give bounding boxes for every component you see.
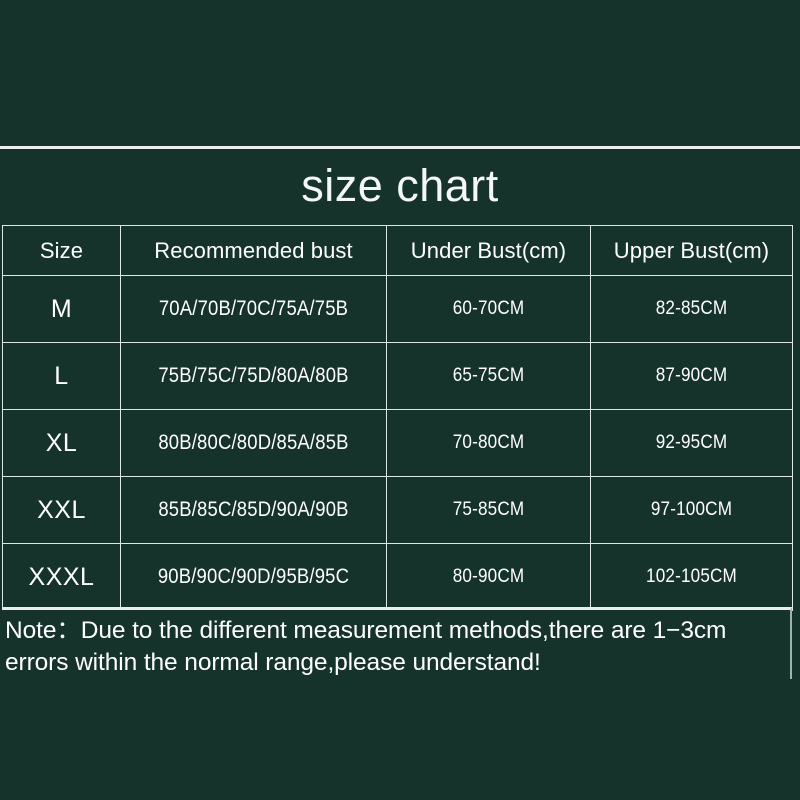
recommended-bust-value: 70A/70B/70C/75A/75B [137, 297, 370, 321]
table-header-row: Size Recommended bust Under Bust(cm) Upp… [3, 226, 793, 276]
cell-upper-bust: 102-105CM [591, 544, 793, 611]
size-value: XL [46, 429, 78, 457]
table-row: L 75B/75C/75D/80A/80B 65-75CM 87-90CM [3, 343, 793, 410]
cell-under-bust: 65-75CM [387, 343, 591, 410]
table-row: M 70A/70B/70C/75A/75B 60-70CM 82-85CM [3, 276, 793, 343]
table-header: Size Recommended bust Under Bust(cm) Upp… [3, 226, 793, 276]
cell-under-bust: 70-80CM [387, 410, 591, 477]
cell-size: L [3, 343, 121, 410]
cell-size: XXXL [3, 544, 121, 611]
cell-upper-bust: 97-100CM [591, 477, 793, 544]
table-row: XXL 85B/85C/85D/90A/90B 75-85CM 97-100CM [3, 477, 793, 544]
under-bust-value: 60-70CM [397, 298, 580, 320]
column-header-upper-bust: Upper Bust(cm) [591, 226, 793, 276]
size-value: M [51, 295, 72, 323]
recommended-bust-value: 80B/80C/80D/85A/85B [137, 431, 370, 455]
under-bust-value: 65-75CM [397, 365, 580, 387]
bottom-spacer [0, 690, 800, 800]
cell-under-bust: 75-85CM [387, 477, 591, 544]
upper-bust-value: 102-105CM [601, 566, 782, 588]
table-body: M 70A/70B/70C/75A/75B 60-70CM 82-85CM L … [3, 276, 793, 611]
upper-bust-value: 92-95CM [601, 432, 782, 454]
title-band: size chart [0, 146, 800, 225]
cell-upper-bust: 87-90CM [591, 343, 793, 410]
column-header-under-bust: Under Bust(cm) [387, 226, 591, 276]
cell-recommended-bust: 75B/75C/75D/80A/80B [121, 343, 387, 410]
cell-under-bust: 60-70CM [387, 276, 591, 343]
table-row: XL 80B/80C/80D/85A/85B 70-80CM 92-95CM [3, 410, 793, 477]
recommended-bust-value: 85B/85C/85D/90A/90B [137, 498, 370, 522]
table-row: XXXL 90B/90C/90D/95B/95C 80-90CM 102-105… [3, 544, 793, 611]
under-bust-value: 75-85CM [397, 499, 580, 521]
cell-size: M [3, 276, 121, 343]
size-value: XXL [37, 496, 86, 524]
recommended-bust-value: 75B/75C/75D/80A/80B [137, 364, 370, 388]
cell-recommended-bust: 80B/80C/80D/85A/85B [121, 410, 387, 477]
size-value: L [54, 362, 68, 390]
cell-recommended-bust: 85B/85C/85D/90A/90B [121, 477, 387, 544]
cell-under-bust: 80-90CM [387, 544, 591, 611]
upper-bust-value: 87-90CM [601, 365, 782, 387]
note-band: Note：Due to the different measurement me… [2, 607, 792, 679]
under-bust-value: 70-80CM [397, 432, 580, 454]
cell-recommended-bust: 90B/90C/90D/95B/95C [121, 544, 387, 611]
cell-upper-bust: 92-95CM [591, 410, 793, 477]
size-value: XXXL [29, 563, 95, 591]
cell-size: XXL [3, 477, 121, 544]
cell-size: XL [3, 410, 121, 477]
column-header-size: Size [3, 226, 121, 276]
under-bust-value: 80-90CM [397, 566, 580, 588]
recommended-bust-value: 90B/90C/90D/95B/95C [137, 565, 370, 589]
note-text: Note：Due to the different measurement me… [5, 615, 790, 679]
upper-bust-value: 97-100CM [601, 499, 782, 521]
column-header-recommended-bust: Recommended bust [121, 226, 387, 276]
upper-bust-value: 82-85CM [601, 298, 782, 320]
size-chart-page: size chart Size Recommended bust Under B… [0, 0, 800, 800]
top-spacer [0, 0, 800, 146]
size-chart-table: Size Recommended bust Under Bust(cm) Upp… [2, 225, 793, 611]
cell-upper-bust: 82-85CM [591, 276, 793, 343]
cell-recommended-bust: 70A/70B/70C/75A/75B [121, 276, 387, 343]
page-title: size chart [301, 163, 499, 212]
